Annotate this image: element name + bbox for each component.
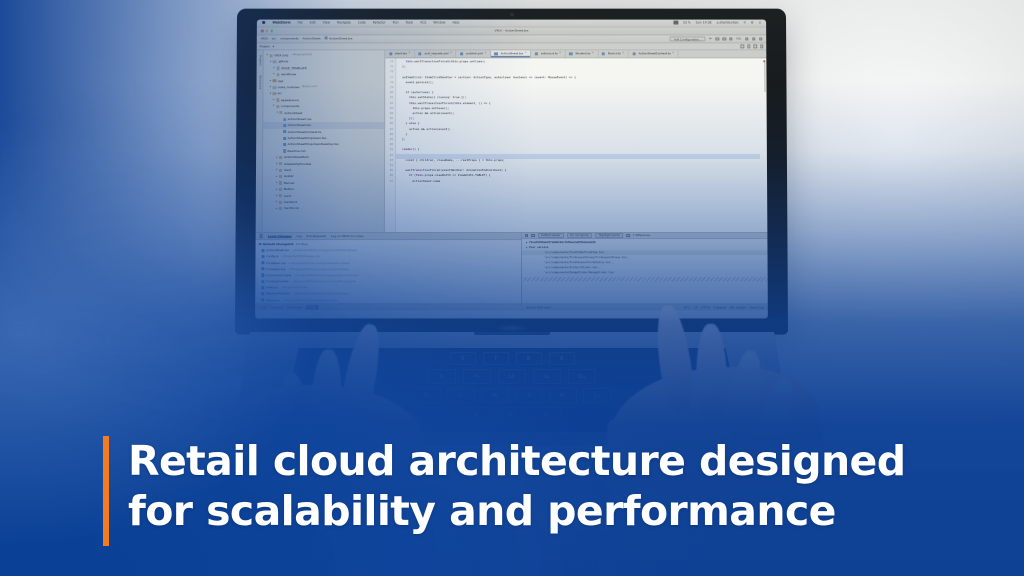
slide-canvas: ● WebStorm File Edit View Navigate Code … xyxy=(0,0,1024,576)
headline-block: Retail cloud architecture designed for s… xyxy=(103,436,906,546)
page-title: Retail cloud architecture designed for s… xyxy=(128,436,906,536)
headline-line-1: Retail cloud architecture designed xyxy=(128,437,906,485)
accent-bar xyxy=(103,436,109,546)
headline-line-2: for scalability and performance xyxy=(128,486,906,536)
